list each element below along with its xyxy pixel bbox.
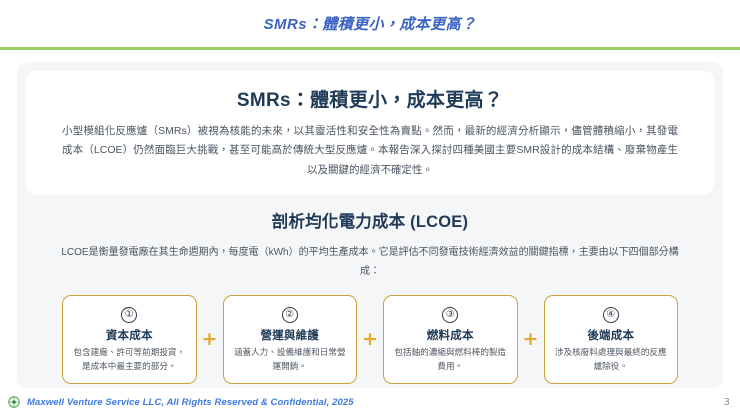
- cost-body-1: 包含建廠、許可等前期投資，是成本中最主要的部分。: [71, 346, 188, 374]
- slide-footer: Maxwell Venture Service LLC, All Rights …: [0, 388, 740, 416]
- cost-component-card-3: ③ 燃料成本 包括鈾的濃縮與燃料棒的製造費用。: [383, 295, 518, 384]
- lcoe-description: LCOE是衡量發電廠在其生命週期內，每度電（kWh）的平均生產成本。它是評估不同…: [56, 243, 684, 281]
- cost-number-badge-4: ④: [603, 307, 619, 323]
- cost-component-card-1: ① 資本成本 包含建廠、許可等前期投資，是成本中最主要的部分。: [62, 295, 197, 384]
- cost-number-badge-3: ③: [442, 307, 458, 323]
- intro-card: SMRs：體積更小，成本更高？ 小型模組化反應爐（SMRs）被視為核能的未來，以…: [26, 71, 714, 194]
- maxwell-logo-icon: [7, 395, 21, 409]
- lcoe-section: 剖析均化電力成本 (LCOE) LCOE是衡量發電廠在其生命週期內，每度電（kW…: [26, 194, 714, 384]
- cost-body-3: 包括鈾的濃縮與燃料棒的製造費用。: [392, 346, 509, 374]
- intro-body-text: 小型模組化反應爐（SMRs）被視為核能的未來，以其靈活性和安全性為賣點。然而，最…: [62, 122, 678, 180]
- slide-header: SMRs：體積更小，成本更高？: [0, 0, 740, 47]
- cost-title-1: 資本成本: [71, 327, 188, 343]
- cost-number-badge-2: ②: [282, 307, 298, 323]
- plus-separator-icon-1: +: [197, 295, 223, 384]
- cost-components-row: ① 資本成本 包含建廠、許可等前期投資，是成本中最主要的部分。 + ② 營運與維…: [56, 295, 684, 384]
- cost-body-2: 涵蓋人力、設備維護和日常營運開銷。: [232, 346, 349, 374]
- cost-number-badge-1: ①: [121, 307, 137, 323]
- slide-body: SMRs：體積更小，成本更高？ 小型模組化反應爐（SMRs）被視為核能的未來，以…: [0, 50, 740, 388]
- plus-separator-icon-2: +: [357, 295, 383, 384]
- cost-title-2: 營運與維護: [232, 327, 349, 343]
- cost-component-card-4: ④ 後端成本 涉及核廢料處理與最終的反應爐除役。: [544, 295, 679, 384]
- cost-title-3: 燃料成本: [392, 327, 509, 343]
- footer-copyright: Maxwell Venture Service LLC, All Rights …: [27, 397, 354, 408]
- intro-title: SMRs：體積更小，成本更高？: [62, 85, 678, 112]
- cost-component-card-2: ② 營運與維護 涵蓋人力、設備維護和日常營運開銷。: [223, 295, 358, 384]
- lcoe-section-title: 剖析均化電力成本 (LCOE): [56, 208, 684, 232]
- cost-title-4: 後端成本: [553, 327, 670, 343]
- header-title: SMRs：體積更小，成本更高？: [264, 13, 477, 34]
- cost-body-4: 涉及核廢料處理與最終的反應爐除役。: [553, 346, 670, 374]
- content-panel: SMRs：體積更小，成本更高？ 小型模組化反應爐（SMRs）被視為核能的未來，以…: [17, 62, 723, 388]
- plus-separator-icon-3: +: [518, 295, 544, 384]
- page-number: 3: [724, 397, 730, 408]
